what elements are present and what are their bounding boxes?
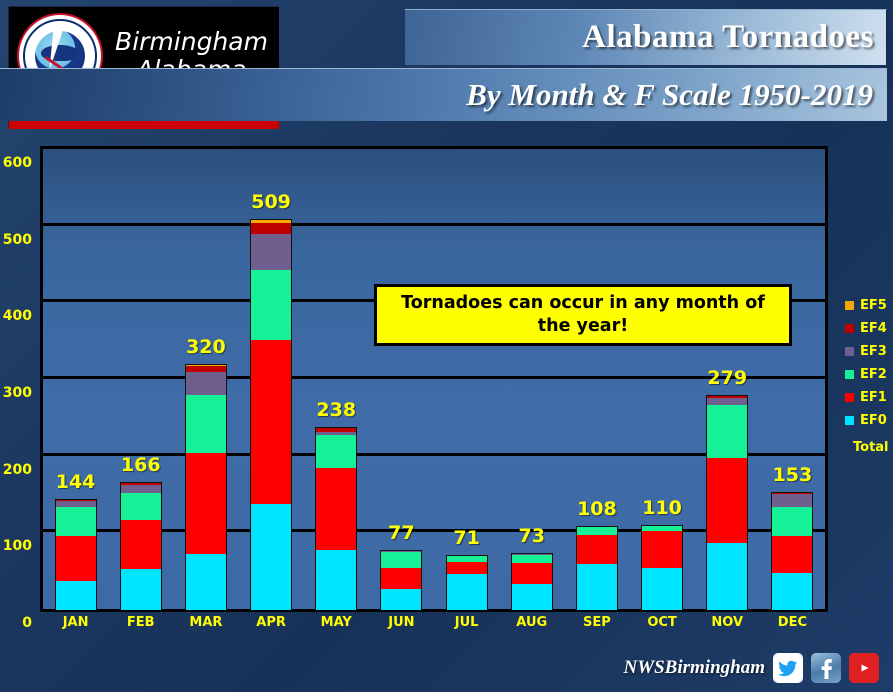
bar-segment-ef2[interactable] (381, 552, 421, 568)
x-axis-tick-label: JUN (388, 615, 414, 630)
bar-total-label: 153 (773, 464, 813, 486)
stacked-bar[interactable] (120, 482, 162, 609)
facebook-icon[interactable] (811, 653, 841, 683)
x-axis-tick-label: JUL (455, 615, 479, 630)
bar-segment-ef2[interactable] (316, 435, 356, 468)
bar-group[interactable]: 509 (239, 149, 304, 609)
stacked-bar[interactable] (511, 553, 553, 609)
subtitle-banner: By Month & F Scale 1950-2019 (0, 68, 887, 121)
bar-total-label: 71 (453, 527, 479, 549)
legend-item-ef3[interactable]: EF3 (845, 340, 893, 363)
bar-segment-ef1[interactable] (512, 563, 552, 584)
bar-segment-ef2[interactable] (707, 405, 747, 459)
y-axis-tick-label: 300 (3, 385, 32, 401)
bar-total-label: 77 (388, 522, 414, 544)
legend-item-ef0[interactable]: EF0 (845, 409, 893, 432)
legend-swatch-icon (845, 324, 854, 333)
bar-group[interactable]: 279 (695, 149, 760, 609)
bar-segment-ef0[interactable] (316, 550, 356, 610)
stacked-bar[interactable] (706, 395, 748, 609)
bar-total-label: 238 (316, 399, 356, 421)
legend-total-label: Total (853, 440, 893, 455)
legend-swatch-icon (845, 301, 854, 310)
legend-label: EF0 (860, 413, 887, 428)
legend-swatch-icon (845, 370, 854, 379)
legend-label: EF5 (860, 298, 887, 313)
y-axis-tick-label: 400 (3, 308, 32, 324)
stacked-bar[interactable] (380, 550, 422, 609)
bar-segment-ef1[interactable] (447, 562, 487, 574)
bar-segment-ef0[interactable] (707, 543, 747, 610)
bar-segment-ef0[interactable] (447, 574, 487, 610)
bar-segment-ef3[interactable] (772, 494, 812, 506)
bar-total-label: 110 (642, 497, 682, 519)
bar-segment-ef2[interactable] (121, 493, 161, 519)
bar-total-label: 509 (251, 191, 291, 213)
bar-total-label: 320 (186, 336, 226, 358)
legend-item-ef4[interactable]: EF4 (845, 317, 893, 340)
x-axis-tick-label: MAY (321, 615, 352, 630)
page-title: Alabama Tornadoes (582, 19, 874, 56)
bar-group[interactable]: 73 (499, 149, 564, 609)
bar-segment-ef2[interactable] (56, 507, 96, 536)
bar-segment-ef2[interactable] (772, 507, 812, 536)
bar-group[interactable]: 110 (630, 149, 695, 609)
bar-segment-ef1[interactable] (707, 458, 747, 542)
bar-group[interactable]: 238 (304, 149, 369, 609)
bar-segment-ef1[interactable] (381, 568, 421, 589)
legend: EF5EF4EF3EF2EF1EF0 Total (845, 294, 893, 455)
y-axis: 0100200300400500600 (0, 146, 36, 618)
bar-segment-ef0[interactable] (251, 504, 291, 610)
bar-segment-ef0[interactable] (186, 554, 226, 610)
bar-series-group: 144166320509238777173108110279153 (43, 149, 825, 609)
bar-total-label: 108 (577, 498, 617, 520)
y-axis-tick-label: 200 (3, 462, 32, 478)
stacked-bar[interactable] (55, 499, 97, 609)
bar-segment-ef0[interactable] (642, 568, 682, 610)
bar-segment-ef1[interactable] (56, 536, 96, 581)
x-axis-tick-label: JAN (63, 615, 89, 630)
social-handle: NWSBirmingham (624, 657, 766, 679)
stacked-bar[interactable] (315, 427, 357, 609)
bar-segment-ef2[interactable] (577, 527, 617, 535)
office-city: Birmingham (115, 28, 268, 56)
bar-segment-ef0[interactable] (512, 584, 552, 610)
page-subtitle: By Month & F Scale 1950-2019 (466, 77, 873, 113)
legend-swatch-icon (845, 393, 854, 402)
stacked-bar[interactable] (641, 525, 683, 609)
x-axis-tick-label: APR (256, 615, 286, 630)
legend-label: EF1 (860, 390, 887, 405)
y-axis-tick-label: 600 (3, 155, 32, 171)
plot-area: 144166320509238777173108110279153 Tornad… (40, 146, 828, 612)
title-banner: Alabama Tornadoes (405, 9, 887, 65)
page-footer: NWSBirmingham (0, 644, 893, 692)
chart-container: 0100200300400500600 14416632050923877717… (0, 132, 893, 652)
callout-text: Tornadoes can occur in any month of the … (391, 292, 775, 338)
x-axis-tick-label: DEC (778, 615, 807, 630)
bar-segment-ef1[interactable] (316, 468, 356, 550)
bar-segment-ef1[interactable] (251, 340, 291, 504)
bar-segment-ef2[interactable] (512, 555, 552, 563)
bar-segment-ef0[interactable] (121, 569, 161, 610)
bar-segment-ef0[interactable] (381, 589, 421, 610)
youtube-icon[interactable] (849, 653, 879, 683)
bar-segment-ef1[interactable] (577, 535, 617, 564)
stacked-bar[interactable] (771, 492, 813, 609)
legend-label: EF4 (860, 321, 887, 336)
bar-segment-ef0[interactable] (772, 573, 812, 610)
x-axis-tick-label: FEB (127, 615, 155, 630)
bar-group[interactable]: 320 (173, 149, 238, 609)
legend-swatch-icon (845, 416, 854, 425)
x-axis-tick-label: SEP (583, 615, 611, 630)
bar-segment-ef3[interactable] (251, 234, 291, 270)
bar-segment-ef3[interactable] (121, 485, 161, 493)
bar-group[interactable]: 166 (108, 149, 173, 609)
bar-segment-ef3[interactable] (186, 372, 226, 396)
bar-segment-ef0[interactable] (56, 581, 96, 610)
bar-total-label: 279 (707, 367, 747, 389)
bar-group[interactable]: 153 (760, 149, 825, 609)
x-axis-tick-label: MAR (189, 615, 222, 630)
bar-segment-ef2[interactable] (251, 270, 291, 340)
x-axis-tick-label: OCT (647, 615, 676, 630)
bar-segment-ef2[interactable] (186, 395, 226, 453)
bar-group[interactable]: 71 (434, 149, 499, 609)
page-header: Birmingham Alabama Source NWS-BMX and SP… (0, 0, 893, 130)
legend-label: EF3 (860, 344, 887, 359)
bar-total-label: 144 (56, 471, 96, 493)
legend-swatch-icon (845, 347, 854, 356)
bar-group[interactable]: 144 (43, 149, 108, 609)
bar-segment-ef1[interactable] (772, 536, 812, 574)
callout-box: Tornadoes can occur in any month of the … (374, 284, 792, 346)
legend-item-ef1[interactable]: EF1 (845, 386, 893, 409)
bar-total-label: 166 (121, 454, 161, 476)
legend-item-ef2[interactable]: EF2 (845, 363, 893, 386)
stacked-bar[interactable] (446, 555, 488, 609)
twitter-icon[interactable] (773, 653, 803, 683)
legend-item-ef5[interactable]: EF5 (845, 294, 893, 317)
stacked-bar[interactable] (250, 219, 292, 609)
y-axis-tick-label: 100 (3, 538, 32, 554)
x-axis: JANFEBMARAPRMAYJUNJULAUGSEPOCTNOVDEC (40, 615, 828, 641)
y-axis-tick-label: 0 (22, 615, 32, 631)
bar-segment-ef4[interactable] (251, 223, 291, 235)
bar-group[interactable]: 108 (564, 149, 629, 609)
x-axis-tick-label: AUG (516, 615, 547, 630)
bar-segment-ef1[interactable] (186, 453, 226, 554)
bar-group[interactable]: 77 (369, 149, 434, 609)
bar-segment-ef0[interactable] (577, 564, 617, 610)
legend-label: EF2 (860, 367, 887, 382)
bar-segment-ef1[interactable] (121, 520, 161, 570)
bar-total-label: 73 (519, 525, 545, 547)
bar-segment-ef1[interactable] (642, 531, 682, 568)
y-axis-tick-label: 500 (3, 232, 32, 248)
x-axis-tick-label: NOV (711, 615, 743, 630)
stacked-bar[interactable] (185, 364, 227, 609)
stacked-bar[interactable] (576, 526, 618, 609)
